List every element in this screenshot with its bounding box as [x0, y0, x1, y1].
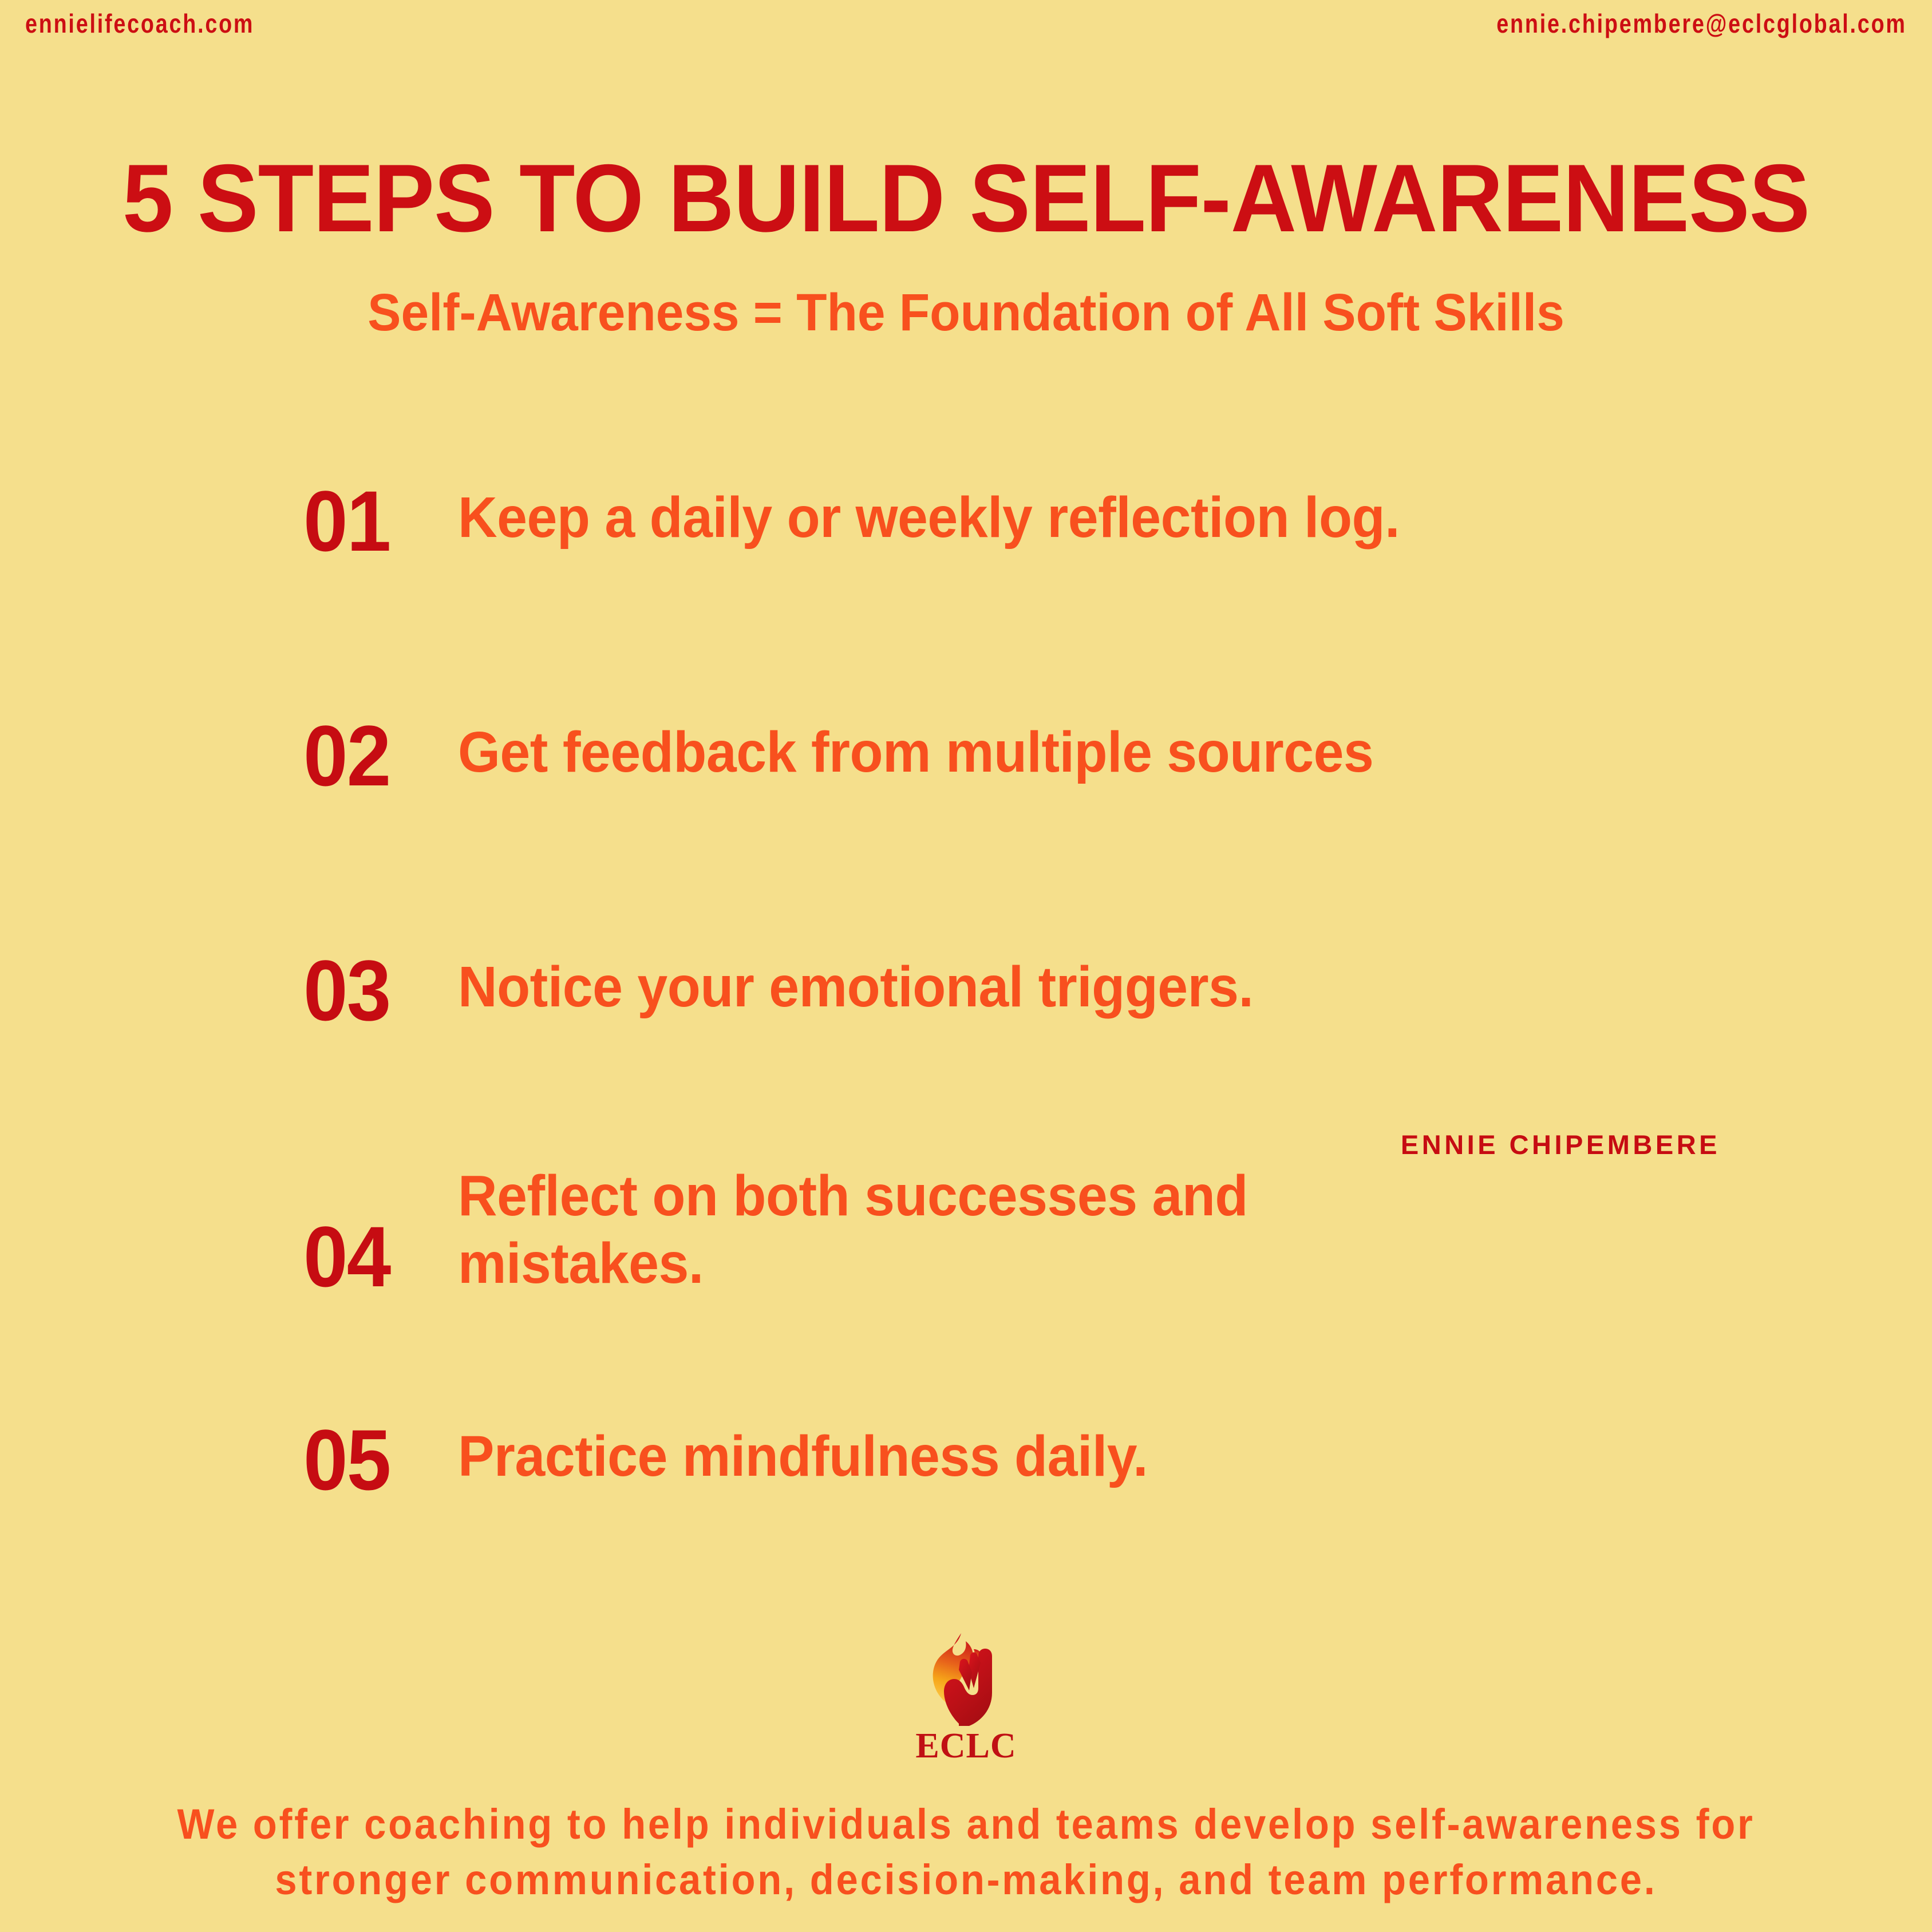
list-item: 01 Keep a daily or weekly reflection log…: [303, 481, 1735, 562]
brand-logo: ECLC: [0, 1629, 1932, 1764]
footer-text: We offer coaching to help individuals an…: [68, 1796, 1864, 1908]
step-number: 04: [303, 1216, 447, 1297]
website-link[interactable]: ennielifecoach.com: [25, 8, 254, 39]
email-link[interactable]: ennie.chipembere@eclcglobal.com: [1497, 8, 1907, 39]
page-subtitle: Self-Awareness = The Foundation of All S…: [48, 286, 1883, 339]
step-text: Keep a daily or weekly reflection log.: [458, 484, 1400, 562]
contact-bar: ennielifecoach.com ennie.chipembere@eclc…: [0, 8, 1932, 54]
list-item: 05 Practice mindfulness daily.: [303, 1420, 1735, 1500]
logo-wordmark: ECLC: [915, 1728, 1016, 1764]
flame-in-hand-icon: [923, 1629, 1009, 1726]
list-item: 03 Notice your emotional triggers.: [303, 950, 1735, 1031]
step-number: 05: [303, 1420, 447, 1500]
list-item: 04 Reflect on both successes and mistake…: [303, 1162, 1735, 1297]
step-text: Practice mindfulness daily.: [458, 1423, 1148, 1500]
footer-line-2: stronger communication, decision-making,…: [105, 1852, 1827, 1908]
step-number: 01: [303, 481, 447, 562]
step-text: Notice your emotional triggers.: [458, 953, 1253, 1031]
page-title: 5 STEPS TO BUILD SELF-AWARENESS: [48, 150, 1883, 246]
step-number: 02: [303, 716, 447, 796]
author-credit: ENNIE CHIPEMBERE: [0, 1129, 1932, 1160]
step-text: Reflect on both successes and mistakes.: [458, 1162, 1508, 1297]
step-number: 03: [303, 950, 447, 1031]
step-text: Get feedback from multiple sources: [458, 718, 1373, 796]
list-item: 02 Get feedback from multiple sources: [303, 716, 1735, 796]
steps-list: 01 Keep a daily or weekly reflection log…: [0, 481, 1932, 1591]
poster-canvas: ennielifecoach.com ennie.chipembere@eclc…: [0, 0, 1932, 1932]
footer-line-1: We offer coaching to help individuals an…: [105, 1796, 1827, 1852]
